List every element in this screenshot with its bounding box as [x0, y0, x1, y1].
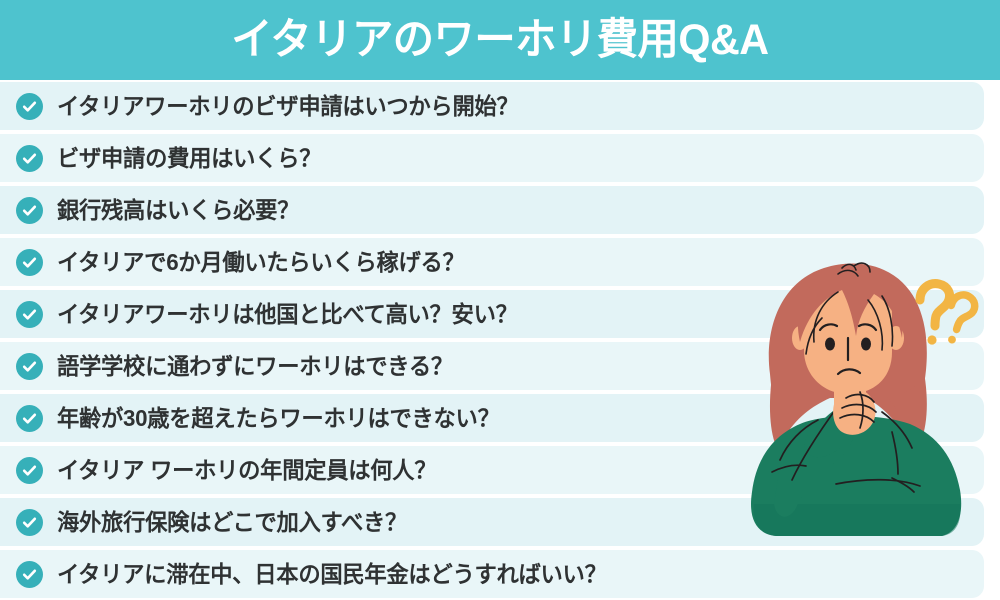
- question-label: イタリアに滞在中、日本の国民年金はどうすればいい？: [57, 563, 607, 586]
- question-label: イタリアワーホリのビザ申請はいつから開始？: [57, 95, 519, 118]
- question-row[interactable]: 海外旅行保険はどこで加入すべき？: [0, 498, 984, 546]
- check-circle-icon: [16, 561, 43, 588]
- question-row[interactable]: イタリアワーホリのビザ申請はいつから開始？: [0, 82, 984, 130]
- question-label: 銀行残高はいくら必要？: [57, 199, 299, 222]
- check-circle-icon: [16, 249, 43, 276]
- infographic-page: イタリアのワーホリ費用Q&A イタリアワーホリのビザ申請はいつから開始？ビザ申請…: [0, 0, 1000, 600]
- question-row[interactable]: イタリアに滞在中、日本の国民年金はどうすればいい？: [0, 550, 984, 598]
- check-circle-icon: [16, 353, 43, 380]
- check-circle-icon: [16, 301, 43, 328]
- question-label: 海外旅行保険はどこで加入すべき？: [57, 511, 407, 534]
- question-label: 語学学校に通わずにワーホリはできる？: [57, 355, 453, 378]
- header-banner: イタリアのワーホリ費用Q&A: [0, 0, 1000, 80]
- check-circle-icon: [16, 405, 43, 432]
- question-list: イタリアワーホリのビザ申請はいつから開始？ビザ申請の費用はいくら？銀行残高はいく…: [0, 80, 1000, 600]
- question-label: イタリアワーホリは他国と比べて高い？安い？: [57, 303, 518, 326]
- question-row[interactable]: イタリアワーホリは他国と比べて高い？安い？: [0, 290, 984, 338]
- check-circle-icon: [16, 145, 43, 172]
- question-label: イタリア ワーホリの年間定員は何人？: [57, 459, 436, 482]
- question-row[interactable]: ビザ申請の費用はいくら？: [0, 134, 984, 182]
- check-circle-icon: [16, 197, 43, 224]
- check-circle-icon: [16, 509, 43, 536]
- question-row[interactable]: 銀行残高はいくら必要？: [0, 186, 984, 234]
- page-title: イタリアのワーホリ費用Q&A: [231, 19, 768, 62]
- question-row[interactable]: 年齢が30歳を超えたらワーホリはできない？: [0, 394, 984, 442]
- question-label: イタリアで6か月働いたらいくら稼げる？: [57, 251, 465, 274]
- question-label: 年齢が30歳を超えたらワーホリはできない？: [57, 407, 500, 430]
- check-circle-icon: [16, 93, 43, 120]
- question-row[interactable]: イタリア ワーホリの年間定員は何人？: [0, 446, 984, 494]
- question-row[interactable]: イタリアで6か月働いたらいくら稼げる？: [0, 238, 984, 286]
- check-circle-icon: [16, 457, 43, 484]
- question-row[interactable]: 語学学校に通わずにワーホリはできる？: [0, 342, 984, 390]
- question-label: ビザ申請の費用はいくら？: [57, 147, 321, 170]
